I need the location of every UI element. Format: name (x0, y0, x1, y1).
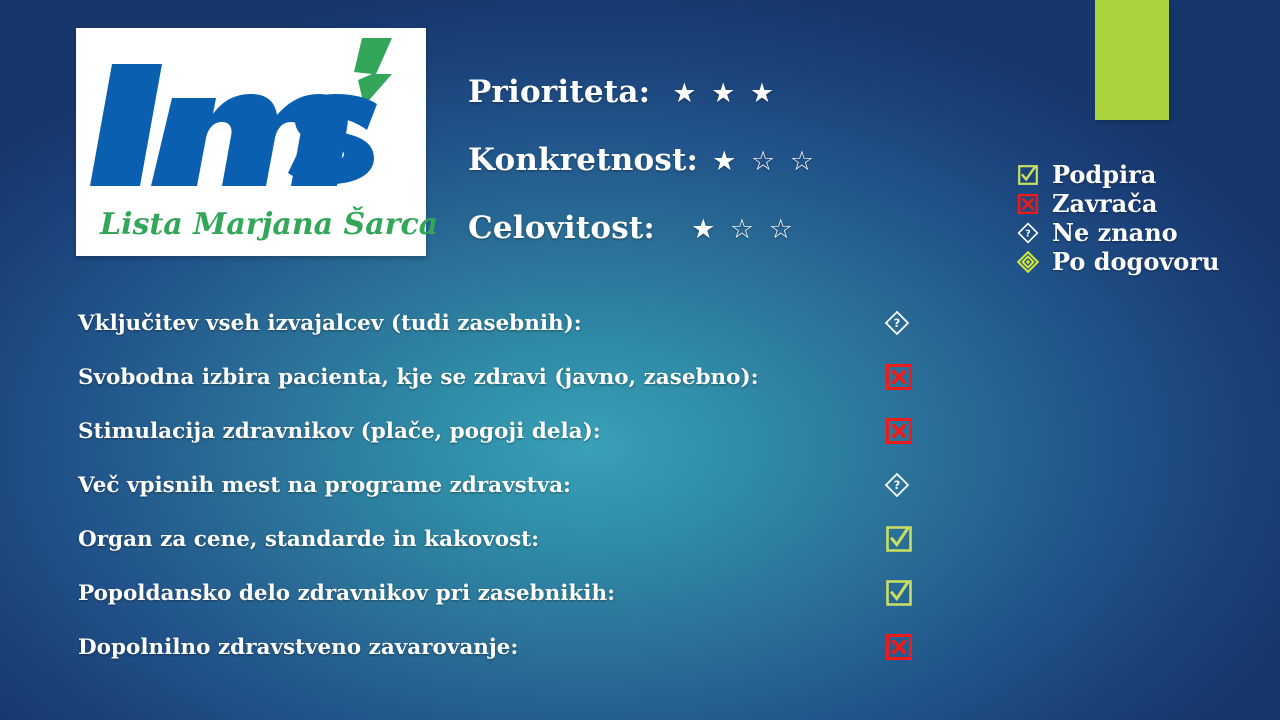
legend-label: Ne znano (1052, 218, 1178, 247)
legend-label: Po dogovoru (1052, 247, 1219, 276)
rating-row-konkretnost: Konkretnost: ★ ☆ ☆ (468, 142, 888, 210)
svg-text:?: ? (1025, 228, 1031, 239)
issue-label: Svobodna izbira pacienta, kje se zdravi … (78, 365, 759, 390)
checkbox-crossed-icon (1015, 191, 1041, 217)
legend-label: Zavrača (1052, 189, 1157, 218)
issue-label: Dopolnilno zdravstveno zavarovanje: (78, 635, 518, 660)
legend-row-agreement: Po dogovoru (1015, 247, 1265, 276)
issue-label: Stimulacija zdravnikov (plače, pogoji de… (78, 419, 601, 444)
legend-label: Podpira (1052, 160, 1156, 189)
diamond-double-icon (1015, 249, 1041, 275)
accent-block (1095, 0, 1169, 120)
rating-stars: ★ ☆ ☆ (691, 216, 796, 243)
rating-label: Konkretnost: (468, 142, 698, 178)
issue-label: Popoldansko delo zdravnikov pri zasebnik… (78, 581, 615, 606)
svg-text:?: ? (894, 478, 901, 492)
status-unknown-icon: ? (884, 310, 910, 336)
rating-row-celovitost: Celovitost: ★ ☆ ☆ (468, 210, 888, 278)
legend-row-reject: Zavrača (1015, 189, 1265, 218)
status-reject-icon (884, 362, 914, 392)
issue-label: Organ za cene, standarde in kakovost: (78, 527, 539, 552)
issue-row: Popoldansko delo zdravnikov pri zasebnik… (78, 566, 1138, 620)
rating-label: Celovitost: (468, 210, 655, 246)
issue-row: Stimulacija zdravnikov (plače, pogoji de… (78, 404, 1138, 458)
status-support-icon (884, 578, 914, 608)
issue-row: Organ za cene, standarde in kakovost: (78, 512, 1138, 566)
rating-stars: ★ ☆ ☆ (712, 148, 817, 175)
legend-row-support: Podpira (1015, 160, 1265, 189)
issue-row: Več vpisnih mest na programe zdravstva: … (78, 458, 1138, 512)
diamond-question-icon: ? (1015, 220, 1041, 246)
status-support-icon (884, 524, 914, 554)
rating-row-prioriteta: Prioriteta: ★ ★ ★ (468, 74, 888, 142)
rating-stars: ★ ★ ★ (672, 80, 777, 107)
ratings-panel: Prioriteta: ★ ★ ★ Konkretnost: ★ ☆ ☆ Cel… (468, 74, 888, 278)
issue-label: Več vpisnih mest na programe zdravstva: (78, 473, 571, 498)
status-unknown-icon: ? (884, 472, 910, 498)
issue-list: Vključitev vseh izvajalcev (tudi zasebni… (78, 296, 1138, 674)
issue-row: Dopolnilno zdravstveno zavarovanje: (78, 620, 1138, 674)
party-logo: Lista Marjana Šarca (76, 28, 426, 256)
legend-panel: Podpira Zavrača ? Ne znano (1015, 160, 1265, 276)
checkbox-checked-icon (1015, 162, 1041, 188)
svg-text:?: ? (894, 316, 901, 330)
issue-row: Svobodna izbira pacienta, kje se zdravi … (78, 350, 1138, 404)
issue-row: Vključitev vseh izvajalcev (tudi zasebni… (78, 296, 1138, 350)
status-reject-icon (884, 632, 914, 662)
status-reject-icon (884, 416, 914, 446)
issue-label: Vključitev vseh izvajalcev (tudi zasebni… (78, 311, 582, 336)
legend-row-unknown: ? Ne znano (1015, 218, 1265, 247)
presentation-slide: Lista Marjana Šarca Prioriteta: ★ ★ ★ Ko… (0, 0, 1280, 720)
logo-tagline: Lista Marjana Šarca (99, 206, 438, 242)
rating-label: Prioriteta: (468, 74, 650, 110)
party-logo-graphic: Lista Marjana Šarca (76, 28, 426, 256)
